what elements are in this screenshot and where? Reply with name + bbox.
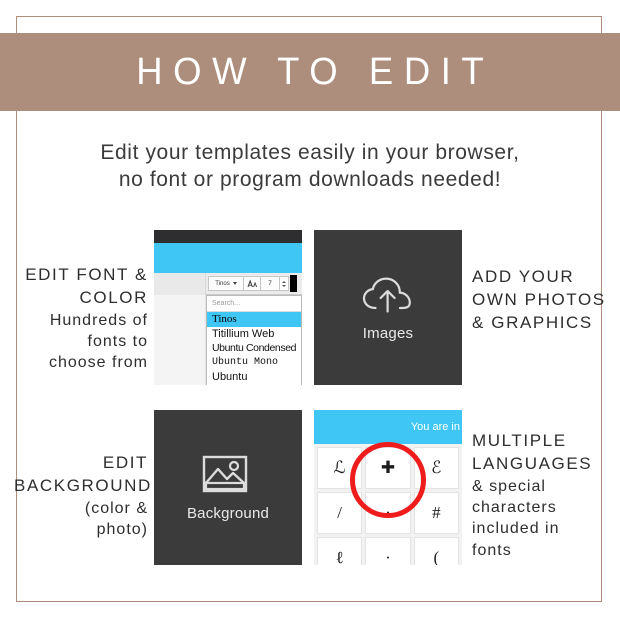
font-list-item-ubuntu-condensed[interactable]: Ubuntu Condensed (207, 341, 301, 356)
caption-line: EDIT (14, 452, 148, 475)
caption-edit-font-color: EDIT FONT & COLOR Hundreds of fonts to c… (14, 264, 148, 374)
caption-line: & special (472, 476, 618, 497)
character-key[interactable]: ℰ (414, 447, 459, 489)
caption-line: EDIT FONT & (14, 264, 148, 287)
screenshot-images-tool: Images (314, 230, 462, 385)
caption-line: fonts to (14, 331, 148, 352)
font-list-item-ubuntu[interactable]: Ubuntu (207, 370, 301, 385)
background-tool-label: Background (187, 505, 269, 522)
caption-line: ADD YOUR (472, 266, 618, 289)
subtitle-text: Edit your templates easily in your brows… (0, 140, 620, 194)
images-tool-card[interactable]: Images (314, 230, 462, 385)
caption-line: LANGUAGES (472, 453, 618, 476)
header-banner: HOW TO EDIT (0, 33, 620, 111)
page-title: HOW TO EDIT (126, 53, 495, 91)
character-key[interactable]: ℓ (317, 537, 362, 565)
caption-line: fonts (472, 540, 618, 561)
caption-line: photo) (14, 519, 148, 540)
subtitle-line-1: Edit your templates easily in your brows… (0, 140, 620, 167)
character-key[interactable]: ( (414, 537, 459, 565)
font-search-input[interactable]: Search... (207, 296, 301, 312)
font-list-item-ubuntu-mono[interactable]: Ubuntu Mono (207, 356, 301, 371)
caption-line: (color & (14, 498, 148, 519)
caption-line: choose from (14, 352, 148, 373)
font-list-item-tinos[interactable]: Tinos (207, 312, 301, 327)
caption-edit-background: EDIT BACKGROUND (color & photo) (14, 452, 148, 540)
caption-line: MULTIPLE (472, 430, 618, 453)
cloud-upload-icon (360, 273, 416, 317)
caption-line: characters (472, 497, 618, 518)
character-key[interactable]: ℒ (317, 447, 362, 489)
font-size-value: 7 (268, 280, 272, 287)
app-title-bar (154, 230, 302, 243)
caption-line: Hundreds of (14, 310, 148, 331)
language-banner-text: You are in (411, 421, 460, 433)
font-size-icon[interactable] (244, 276, 261, 291)
caption-line: included in (472, 518, 618, 539)
caption-add-photos-graphics: ADD YOUR OWN PHOTOS & GRAPHICS (472, 266, 618, 334)
font-family-dropdown-button[interactable]: Tinos (208, 276, 244, 291)
character-key[interactable]: · (365, 492, 410, 534)
font-family-value: Tinos (215, 281, 229, 287)
picture-image-icon (200, 453, 256, 497)
chevron-down-icon (233, 282, 237, 285)
character-key[interactable]: # (414, 492, 459, 534)
background-tool-card[interactable]: Background (154, 410, 302, 565)
special-characters-grid: ℒ ✚ ℰ / · # ℓ · ( (314, 444, 462, 565)
stepper-down-icon[interactable] (282, 285, 286, 287)
subtitle-line-2: no font or program downloads needed! (0, 167, 620, 194)
color-swatch-black[interactable] (290, 275, 297, 292)
character-key[interactable]: · (365, 537, 410, 565)
caption-line: BACKGROUND (14, 475, 148, 498)
caption-multiple-languages: MULTIPLE LANGUAGES & special characters … (472, 430, 618, 561)
screenshot-special-characters: You are in ℒ ✚ ℰ / · # ℓ · ( (314, 410, 462, 565)
font-size-input[interactable]: 7 (261, 276, 280, 291)
caption-line: & GRAPHICS (472, 312, 618, 335)
caption-line: OWN PHOTOS (472, 289, 618, 312)
app-blue-banner (154, 243, 302, 273)
character-key[interactable]: ✚ (365, 447, 410, 489)
screenshot-background-tool: Background (154, 410, 302, 565)
screenshot-font-picker: Tinos 7 Search... Tinos Titillium Web Ub… (154, 230, 302, 385)
font-list-item-titillium[interactable]: Titillium Web (207, 327, 301, 342)
font-size-stepper[interactable] (280, 276, 289, 291)
caption-line: COLOR (14, 287, 148, 310)
app-canvas-area (154, 295, 206, 385)
font-family-dropdown-list[interactable]: Search... Tinos Titillium Web Ubuntu Con… (206, 295, 302, 385)
character-key[interactable]: / (317, 492, 362, 534)
images-tool-label: Images (363, 325, 413, 342)
stepper-up-icon[interactable] (282, 281, 286, 283)
language-banner: You are in (314, 410, 462, 444)
